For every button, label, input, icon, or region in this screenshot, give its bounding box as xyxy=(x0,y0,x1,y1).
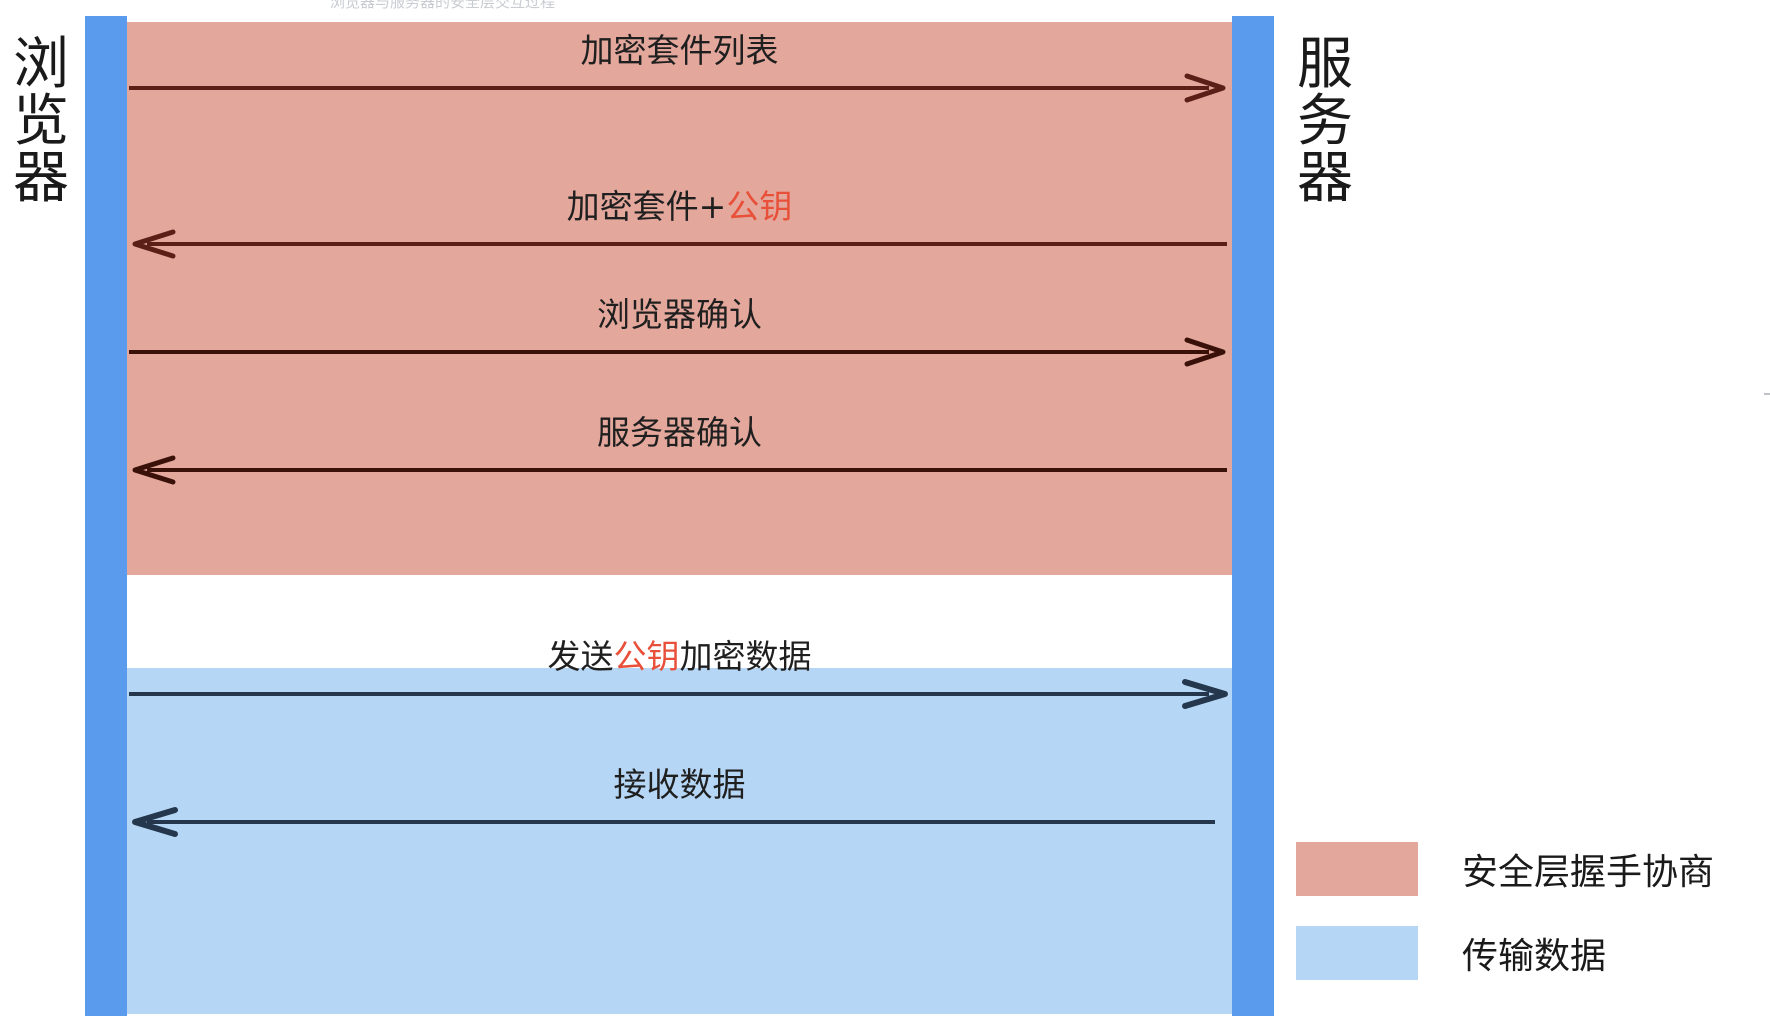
actor-server-char-3: 器 xyxy=(1290,150,1360,207)
message-label-5: 发送公钥加密数据 xyxy=(127,636,1232,678)
message-cipher-suite-plus-public-key: 加密套件+公钥 xyxy=(127,186,1232,260)
message-server-confirm: 服务器确认 xyxy=(127,412,1232,486)
actor-server-char-2: 务 xyxy=(1290,93,1360,150)
message-5-part-3: 加密数据 xyxy=(680,637,812,676)
diagram-canvas: 浏览器与服务器的安全层交互过程 浏 览 器 服 务 器 加密套件列表 xyxy=(0,0,1770,1020)
actor-server-char-1: 服 xyxy=(1290,36,1360,93)
lifeline-server xyxy=(1232,16,1274,1016)
message-cipher-suite-list: 加密套件列表 xyxy=(127,30,1232,104)
actor-label-browser: 浏 览 器 xyxy=(6,36,76,207)
message-arrow-3 xyxy=(127,338,1232,366)
edge-tick-mark xyxy=(1764,393,1770,395)
message-2-part-2-highlight: 公钥 xyxy=(726,187,792,226)
actor-browser-char-3: 器 xyxy=(6,150,76,207)
message-arrow-1 xyxy=(127,74,1232,102)
message-3-part-1: 浏览器确认 xyxy=(597,295,762,334)
message-arrow-5 xyxy=(127,680,1232,708)
legend: 安全层握手协商 传输数据 xyxy=(1296,838,1766,1006)
message-receive-data: 接收数据 xyxy=(127,764,1232,838)
message-2-part-1: 加密套件+ xyxy=(567,187,727,226)
legend-row-handshake: 安全层握手协商 xyxy=(1296,838,1766,900)
message-label-6: 接收数据 xyxy=(127,764,1232,806)
message-5-part-2-highlight: 公钥 xyxy=(614,637,680,676)
message-label-3: 浏览器确认 xyxy=(127,294,1232,336)
lifeline-browser xyxy=(85,16,127,1016)
message-send-public-key-encrypted-data: 发送公钥加密数据 xyxy=(127,636,1232,710)
message-arrow-4 xyxy=(127,456,1232,484)
sequence-diagram: 浏 览 器 服 务 器 加密套件列表 加密套件+公钥 xyxy=(0,0,1770,1020)
legend-swatch-handshake xyxy=(1296,842,1418,896)
message-1-part-1: 加密套件列表 xyxy=(581,31,779,70)
message-5-part-1: 发送 xyxy=(548,637,614,676)
message-arrow-2 xyxy=(127,230,1232,258)
legend-label-handshake: 安全层握手协商 xyxy=(1462,843,1714,895)
message-4-part-1: 服务器确认 xyxy=(597,413,762,452)
legend-row-transfer: 传输数据 xyxy=(1296,922,1766,984)
message-label-4: 服务器确认 xyxy=(127,412,1232,454)
message-6-part-1: 接收数据 xyxy=(614,765,746,804)
phase-band-transfer xyxy=(127,668,1232,1014)
message-label-1: 加密套件列表 xyxy=(127,30,1232,72)
message-arrow-6 xyxy=(127,808,1232,836)
message-browser-confirm: 浏览器确认 xyxy=(127,294,1232,368)
actor-browser-char-1: 浏 xyxy=(6,36,76,93)
message-label-2: 加密套件+公钥 xyxy=(127,186,1232,228)
legend-label-transfer: 传输数据 xyxy=(1462,927,1606,979)
actor-label-server: 服 务 器 xyxy=(1290,36,1360,207)
legend-swatch-transfer xyxy=(1296,926,1418,980)
actor-browser-char-2: 览 xyxy=(6,93,76,150)
